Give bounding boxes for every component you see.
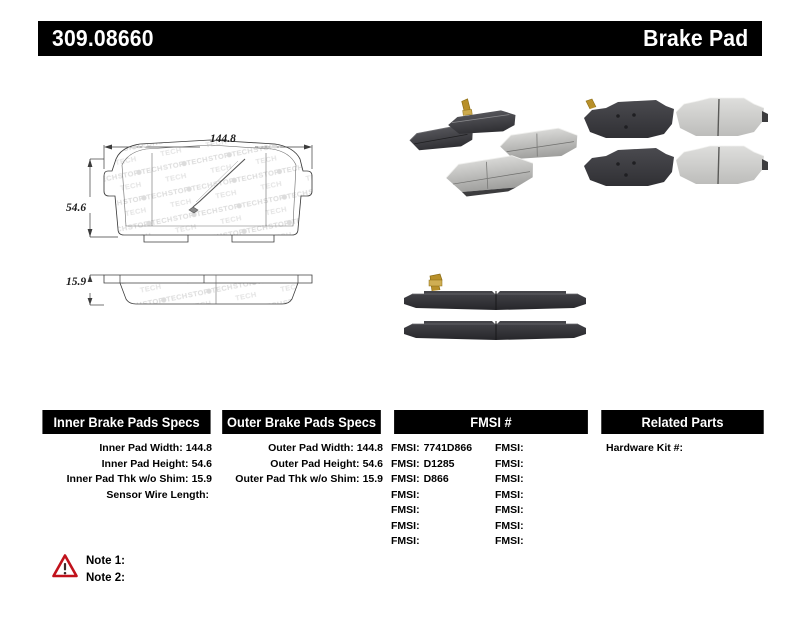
fmsi-row: FMSI: (491, 441, 595, 457)
spec-label: Outer Pad Height: (270, 457, 359, 473)
spec-value: 15.9 (363, 472, 383, 488)
fmsi-row: FMSI: (387, 519, 491, 535)
width-dimension-label: 144.8 (210, 133, 236, 145)
pad-edge-top (404, 274, 586, 310)
fmsi-row: FMSI: D1285 (387, 457, 491, 473)
fmsi-label: FMSI: (495, 503, 524, 519)
fmsi-label: FMSI: (495, 534, 524, 550)
brake-pad-dimension-drawing: STOP TECH TECH (60, 125, 390, 325)
fmsi-subcolumn-right: FMSI: FMSI: FMSI: FMSI: FMSI: (491, 441, 595, 550)
notes-section: Note 1: Note 2: (52, 553, 125, 587)
spec-row: Sensor Wire Length: (38, 488, 216, 504)
column-header-fmsi: FMSI # (394, 410, 588, 434)
spec-row: Outer Pad Width: 144.8 (216, 441, 387, 457)
product-photo-angled-set (402, 92, 582, 202)
spec-table-header-row: Inner Brake Pads Specs Outer Brake Pads … (38, 410, 768, 434)
spec-value: 54.6 (192, 457, 212, 473)
fmsi-value: 7741D866 (424, 441, 472, 457)
height-dimension-label: 54.6 (66, 202, 86, 214)
fmsi-label: FMSI: (391, 503, 420, 519)
fmsi-label: FMSI: (391, 519, 420, 535)
pad-photo-4 (444, 153, 536, 197)
spec-row: Inner Pad Thk w/o Shim: 15.9 (38, 472, 216, 488)
pad-side-view (100, 273, 318, 307)
fmsi-label: FMSI: (391, 472, 420, 488)
hardware-kit-row: Hardware Kit #: (596, 441, 768, 457)
fmsi-label: FMSI: (391, 534, 420, 550)
inner-specs-column: Inner Pad Width: 144.8 Inner Pad Height:… (38, 441, 216, 550)
pad-photo-2-with-sensor (446, 94, 517, 137)
spec-row: Outer Pad Thk w/o Shim: 15.9 (216, 472, 387, 488)
column-header-related-parts: Related Parts (601, 410, 763, 434)
product-type-title: Brake Pad (643, 25, 748, 52)
fmsi-row: FMSI: (491, 503, 595, 519)
spec-label: Sensor Wire Length: (106, 488, 209, 504)
fmsi-subcolumn-left: FMSI: 7741D866 FMSI: D1285 FMSI: D866 FM… (387, 441, 491, 550)
spec-label: Outer Pad Thk w/o Shim: (235, 472, 359, 488)
fmsi-label: FMSI: (495, 472, 524, 488)
spec-label: Inner Pad Height: (102, 457, 189, 473)
part-number: 309.08660 (52, 25, 154, 52)
related-parts-column: Hardware Kit #: (596, 441, 768, 550)
spec-table-body: Inner Pad Width: 144.8 Inner Pad Height:… (38, 441, 768, 550)
pad-flat-dark-bottom (584, 148, 674, 186)
fmsi-row: FMSI: (491, 457, 595, 473)
spec-value: 54.6 (363, 457, 383, 473)
spec-label: Inner Pad Width: (99, 441, 182, 457)
thickness-dimension-line (90, 275, 104, 305)
column-header-outer-specs: Outer Brake Pads Specs (222, 410, 381, 434)
pad-flat-dark-top (584, 99, 674, 138)
fmsi-label: FMSI: (495, 441, 524, 457)
spec-value: 144.8 (186, 441, 212, 457)
technical-drawing: STOP TECH TECH (60, 125, 390, 325)
fmsi-label: FMSI: (495, 457, 524, 473)
product-photo-edge-pair (396, 270, 611, 355)
fmsi-row: FMSI: (491, 534, 595, 550)
warning-triangle-icon (52, 553, 78, 579)
fmsi-label: FMSI: (391, 441, 420, 457)
spec-label: Inner Pad Thk w/o Shim: (67, 472, 189, 488)
note-2: Note 2: (86, 570, 125, 587)
note-1: Note 1: (86, 553, 125, 570)
fmsi-value: D866 (424, 472, 449, 488)
product-photo-flat-set (578, 96, 768, 197)
fmsi-row: FMSI: (491, 488, 595, 504)
page-header-bar: 309.08660 Brake Pad (38, 21, 762, 56)
fmsi-row: FMSI: (491, 472, 595, 488)
fmsi-row: FMSI: (387, 534, 491, 550)
spec-label: Outer Pad Width: (268, 441, 354, 457)
fmsi-label: FMSI: (391, 457, 420, 473)
spec-row: Inner Pad Width: 144.8 (38, 441, 216, 457)
thickness-dimension-label: 15.9 (66, 276, 86, 288)
spec-value: 144.8 (357, 441, 383, 457)
note-lines: Note 1: Note 2: (86, 553, 125, 587)
specifications-table: Inner Brake Pads Specs Outer Brake Pads … (38, 410, 768, 550)
hardware-kit-label: Hardware Kit #: (606, 442, 683, 454)
fmsi-label: FMSI: (495, 488, 524, 504)
pad-flat-light-bottom (676, 146, 768, 184)
spec-row: Inner Pad Height: 54.6 (38, 457, 216, 473)
fmsi-column: FMSI: 7741D866 FMSI: D1285 FMSI: D866 FM… (387, 441, 596, 550)
spec-value: 15.9 (192, 472, 212, 488)
fmsi-label: FMSI: (391, 488, 420, 504)
fmsi-row: FMSI: 7741D866 (387, 441, 491, 457)
fmsi-row: FMSI: (387, 503, 491, 519)
fmsi-row: FMSI: (491, 519, 595, 535)
column-header-inner-specs: Inner Brake Pads Specs (42, 410, 210, 434)
fmsi-row: FMSI: D866 (387, 472, 491, 488)
pad-flat-light-top (676, 98, 768, 136)
fmsi-row: FMSI: (387, 488, 491, 504)
spec-row: Outer Pad Height: 54.6 (216, 457, 387, 473)
outer-specs-column: Outer Pad Width: 144.8 Outer Pad Height:… (216, 441, 387, 550)
fmsi-label: FMSI: (495, 519, 524, 535)
fmsi-value: D1285 (424, 457, 455, 473)
pad-edge-bottom (404, 321, 586, 340)
pad-face-view (100, 135, 318, 242)
